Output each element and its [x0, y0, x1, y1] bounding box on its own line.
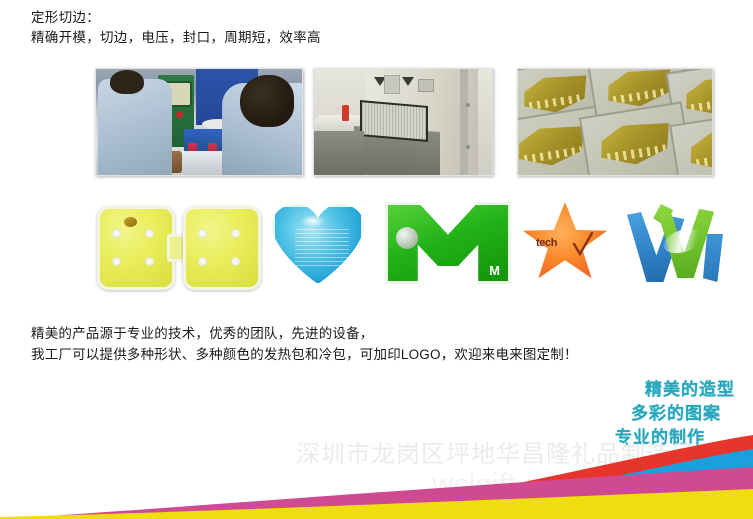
photo1-worker-left-head	[110, 70, 144, 94]
weld-dot	[112, 229, 121, 238]
metal-molds-photo-content	[518, 69, 712, 175]
photo2-label-tag	[418, 79, 434, 92]
slogan-line-2: 多彩的图案	[535, 402, 721, 426]
body-line-2: 我工厂可以提供多种形状、多种颜色的发热包和冷包，可加印LOGO，欢迎来电来图定制…	[31, 344, 731, 365]
weld-dot	[198, 257, 207, 266]
workshop-press-photo-content	[96, 69, 302, 175]
blue-green-w-pack	[627, 204, 725, 284]
body-line-1: 精美的产品源于专业的技术，优秀的团队，先进的设备，	[31, 323, 731, 344]
weld-dot	[112, 257, 121, 266]
workshop-press-photo	[95, 68, 303, 176]
mold-gold-insert	[687, 126, 712, 175]
mold-gold-insert	[518, 122, 589, 171]
weld-dot	[231, 229, 240, 238]
slogan-line-1: 精美的造型	[535, 378, 735, 402]
photo1-worker-left	[98, 79, 172, 175]
green-m-logo-pack: M	[385, 202, 511, 284]
photo2-blade-guard	[360, 100, 428, 142]
photo1-worker-right-head	[240, 75, 294, 127]
section-body-copy: 精美的产品源于专业的技术，优秀的团队，先进的设备， 我工厂可以提供多种形状、多种…	[31, 323, 731, 365]
photo2-bolt-1	[466, 103, 470, 107]
mold-gold-insert	[597, 118, 674, 169]
m-logo-mark: M	[489, 264, 500, 277]
heart-highlight	[301, 215, 325, 227]
photo1-button-red-2	[176, 111, 183, 118]
metal-molds-photo	[517, 68, 713, 176]
heart-printed-text	[295, 229, 349, 267]
photo2-right-column	[460, 69, 468, 175]
product-sample-row: M tech	[0, 192, 753, 297]
w-blue-tail	[703, 234, 723, 282]
page-root: 定形切边： 精确开模，切边，电压，封口，周期短，效率高	[0, 0, 753, 519]
blue-heart-pack	[272, 204, 364, 286]
weld-dot	[145, 229, 154, 238]
heart-shape	[272, 204, 364, 286]
bottom-color-ribbon	[0, 427, 753, 519]
cutting-machine-photo	[313, 68, 493, 176]
m-activator-disc	[396, 227, 418, 249]
section-heading: 定形切边： 精确开模，切边，电压，封口，周期短，效率高	[31, 8, 691, 48]
photo2-red-bottle	[342, 105, 349, 121]
yellow-square-left	[97, 206, 175, 290]
yellow-twin-square-pack	[97, 206, 257, 284]
yellow-square-right	[183, 206, 261, 290]
heading-line-2: 精确开模，切边，电压，封口，周期短，效率高	[31, 28, 691, 48]
orange-star-pack: tech	[522, 202, 608, 284]
m-shape: M	[385, 202, 511, 284]
star-check-icon	[572, 232, 594, 258]
weld-dot	[231, 257, 240, 266]
ribbon-svg	[0, 427, 753, 519]
cutting-machine-photo-content	[314, 69, 492, 175]
mold-gold-insert	[682, 73, 712, 119]
photo2-bolt-2	[466, 145, 470, 149]
weld-dot	[145, 257, 154, 266]
photo2-plate	[384, 75, 400, 94]
yellow-square-activator	[124, 217, 137, 227]
process-photo-row	[95, 68, 713, 176]
weld-dot	[198, 229, 207, 238]
photo2-left-base	[314, 131, 364, 175]
heading-line-1: 定形切边：	[31, 8, 691, 28]
